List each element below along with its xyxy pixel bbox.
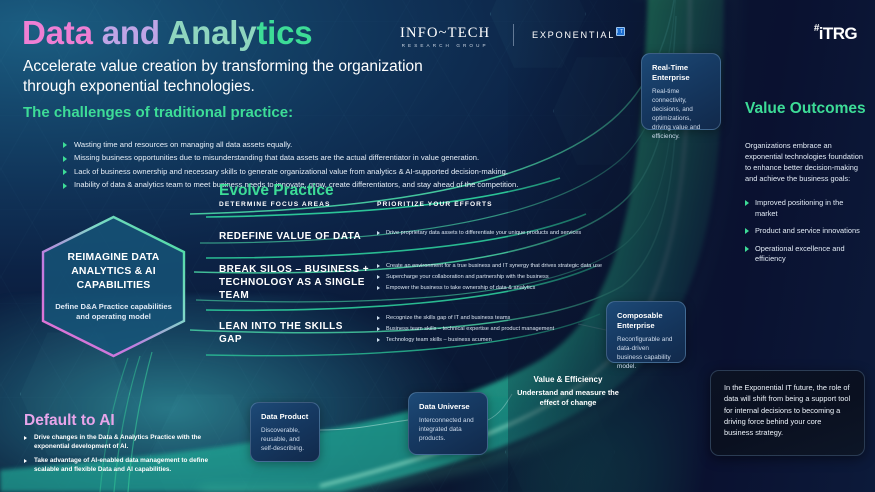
info-tech-logo-name: INFO~TECH	[400, 26, 490, 41]
evolve-practice-title: Evolve Practice	[219, 182, 334, 200]
page-title-part-3: Analy	[168, 14, 257, 51]
card-body: Discoverable, reusable, and self-describ…	[261, 426, 309, 453]
value-efficiency-body: Understand and measure the effect of cha…	[508, 388, 628, 408]
list-item: Business team skills – technical experti…	[377, 326, 622, 334]
logo-divider	[513, 24, 514, 46]
value-outcomes-body: Organizations embrace an exponential tec…	[745, 140, 863, 184]
card-body: Reconfigurable and data-driven business …	[617, 335, 675, 371]
list-item: Wasting time and resources on managing a…	[63, 140, 543, 150]
itrg-hash: #	[814, 23, 819, 34]
evolve-column-header-1: DETERMINE FOCUS AREAS	[219, 201, 331, 208]
list-item: Lack of business ownership and necessary…	[63, 167, 543, 177]
default-to-ai-title: Default to AI	[24, 412, 115, 430]
info-tech-logo-tagline: RESEARCH GROUP	[400, 43, 490, 48]
default-to-ai-list: Drive changes in the Data & Analytics Pr…	[24, 434, 229, 481]
card-body: Real-time connectivity, decisions, and o…	[652, 87, 710, 142]
value-outcomes-list: Improved positioning in the market Produ…	[745, 198, 865, 272]
card-title: Real-Time Enterprise	[652, 63, 710, 83]
hexagon-subtitle: Define D&A Practice capabilities and ope…	[50, 302, 177, 322]
page-title-part-4: tics	[256, 14, 312, 51]
infographic-poster: Data and Analytics Accelerate value crea…	[0, 0, 875, 492]
list-item: Technology team skills – business acumen	[377, 337, 622, 345]
card-data-product: Data Product Discoverable, reusable, and…	[250, 402, 320, 462]
page-subtitle: Accelerate value creation by transformin…	[23, 57, 443, 97]
card-title: Data Product	[261, 412, 309, 422]
list-item: Improved positioning in the market	[745, 198, 865, 219]
card-real-time-enterprise: Real-Time Enterprise Real-time connectiv…	[641, 53, 721, 130]
page-title-part-2: and	[102, 14, 168, 51]
exponential-it-badge-icon: IT	[616, 27, 625, 36]
itrg-label: iTRG	[819, 24, 857, 43]
list-item: Create an environment for a true busines…	[377, 263, 622, 271]
list-item: Empower the business to take ownership o…	[377, 285, 622, 293]
card-future-note: In the Exponential IT future, the role o…	[710, 370, 865, 456]
info-tech-logo: INFO~TECH RESEARCH GROUP	[400, 26, 490, 48]
page-title: Data and Analytics	[22, 16, 312, 49]
list-item: Supercharge your collaboration and partn…	[377, 274, 622, 282]
card-data-universe: Data Universe Interconnected and integra…	[408, 392, 488, 455]
exponential-label: EXPONENTIAL	[532, 30, 615, 40]
row-bullets: Create an environment for a true busines…	[377, 263, 622, 296]
row-label: BREAK SILOS – BUSINESS + TECHNOLOGY AS A…	[219, 263, 369, 302]
card-body: In the Exponential IT future, the role o…	[724, 382, 851, 438]
list-item: Recognize the skills gap of IT and busin…	[377, 315, 622, 323]
card-title: Data Universe	[419, 402, 477, 412]
exponential-it-logo: EXPONENTIALIT	[532, 30, 625, 40]
list-item: Operational excellence and efficiency	[745, 244, 865, 265]
card-composable-enterprise: Composable Enterprise Reconfigurable and…	[606, 301, 686, 363]
challenges-heading: The challenges of traditional practice:	[23, 104, 293, 121]
list-item: Product and service innovations	[745, 226, 865, 237]
row-label: LEAN INTO THE SKILLS GAP	[219, 320, 369, 346]
value-efficiency-block: Value & Efficiency Understand and measur…	[508, 375, 628, 408]
hexagon-content: REIMAGINE DATA ANALYTICS & AI CAPABILITI…	[36, 214, 191, 359]
list-item: Drive changes in the Data & Analytics Pr…	[24, 434, 229, 452]
list-item: Missing business opportunities due to mi…	[63, 153, 543, 163]
hexagon-title: REIMAGINE DATA ANALYTICS & AI CAPABILITI…	[50, 251, 177, 293]
list-item: Drive proprietary data assets to differe…	[377, 230, 622, 238]
page-title-part-1: Data	[22, 14, 102, 51]
evolve-column-header-2: PRIORITIZE YOUR EFFORTS	[377, 201, 493, 208]
itrg-logo: #iTRG	[814, 24, 857, 44]
card-title: Composable Enterprise	[617, 311, 675, 331]
value-outcomes-title: Value Outcomes	[745, 100, 866, 118]
list-item: Take advantage of AI-enabled data manage…	[24, 457, 229, 475]
row-bullets: Drive proprietary data assets to differe…	[377, 230, 622, 241]
value-efficiency-title: Value & Efficiency	[508, 375, 628, 384]
row-label: REDEFINE VALUE OF DATA	[219, 230, 369, 243]
card-body: Interconnected and integrated data produ…	[419, 416, 477, 443]
reimagine-hexagon: REIMAGINE DATA ANALYTICS & AI CAPABILITI…	[36, 214, 191, 359]
row-bullets: Recognize the skills gap of IT and busin…	[377, 315, 622, 348]
